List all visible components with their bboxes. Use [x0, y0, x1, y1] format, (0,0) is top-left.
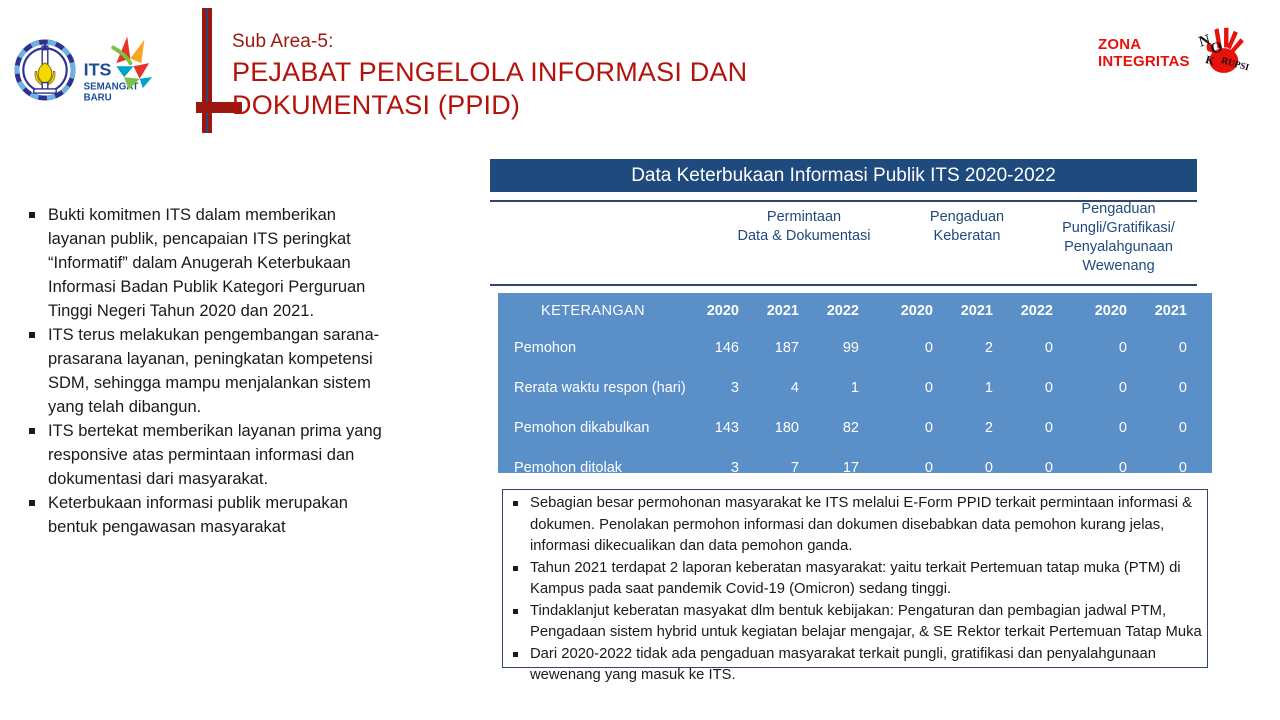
- bullet-square-icon: [29, 500, 35, 506]
- cell-value: 0: [1076, 328, 1136, 368]
- cell-value: 1: [942, 368, 1002, 408]
- cell-value: 99: [808, 328, 868, 368]
- bullet-square-icon: [513, 609, 518, 614]
- list-item-text: ITS bertekat memberikan layanan prima ya…: [48, 422, 382, 488]
- its-seal-logo-icon: [10, 35, 80, 105]
- list-item: ITS bertekat memberikan layanan prima ya…: [22, 419, 382, 491]
- cell-value: 82: [808, 408, 868, 448]
- row-label: Pemohon dikabulkan: [498, 408, 688, 448]
- cell-value: 180: [748, 408, 808, 448]
- column-gap: [868, 448, 882, 473]
- no-korupsi-hand-stamp-icon: N O K RUPSI: [1178, 22, 1252, 86]
- list-item: Tindaklanjut keberatan masyakat dlm bent…: [508, 601, 1208, 644]
- list-item: Keterbukaan informasi publik merupakan b…: [22, 491, 382, 539]
- list-item: Bukti komitmen ITS dalam memberikan laya…: [22, 203, 382, 323]
- cell-value: 0: [1002, 408, 1062, 448]
- list-item: ITS terus melakukan pengembangan sarana-…: [22, 323, 382, 419]
- svg-text:ITS: ITS: [84, 60, 112, 80]
- notes-list: Sebagian besar permohonan masyarakat ke …: [508, 493, 1208, 687]
- cell-value: 0: [1196, 408, 1212, 448]
- page-title: PEJABAT PENGELOLA INFORMASI DAN DOKUMENT…: [232, 56, 932, 122]
- column-header-year: 2021: [748, 293, 808, 328]
- list-item-text: Bukti komitmen ITS dalam memberikan laya…: [48, 206, 365, 320]
- cell-value: 0: [1076, 368, 1136, 408]
- table-row: Rerata waktu respon (hari) 3 4 1 0 1 0 0…: [498, 368, 1212, 408]
- cell-value: 0: [882, 328, 942, 368]
- cell-value: 17: [808, 448, 868, 473]
- column-header-year: 2022: [808, 293, 868, 328]
- table-header-row: KETERANGAN 2020 2021 2022 2020 2021 2022…: [498, 293, 1212, 328]
- column-header-year: 2020: [1076, 293, 1136, 328]
- column-group-header-pungli: Pengaduan Pungli/Gratifikasi/ Penyalahgu…: [1040, 200, 1197, 276]
- column-header-year: 2022: [1196, 293, 1212, 328]
- cell-value: 0: [1076, 448, 1136, 473]
- cell-value: 0: [1136, 408, 1196, 448]
- cell-value: 0: [1002, 448, 1062, 473]
- cell-value: 187: [748, 328, 808, 368]
- bullet-square-icon: [513, 501, 518, 506]
- cell-value: 0: [942, 448, 1002, 473]
- cell-value: 0: [1196, 448, 1212, 473]
- list-item: Dari 2020-2022 tidak ada pengaduan masya…: [508, 644, 1208, 687]
- bullet-square-icon: [29, 332, 35, 338]
- cell-value: 0: [1002, 328, 1062, 368]
- column-header-year: 2022: [1002, 293, 1062, 328]
- cell-value: 4: [748, 368, 808, 408]
- group-header-rule-bottom: [490, 284, 1197, 286]
- column-gap: [868, 293, 882, 328]
- accent-navy-hairline: [206, 8, 208, 133]
- column-header-year: 2020: [882, 293, 942, 328]
- column-gap: [1062, 293, 1076, 328]
- table-row: Pemohon ditolak 3 7 17 0 0 0 0 0 0: [498, 448, 1212, 473]
- cell-value: 0: [1136, 448, 1196, 473]
- list-item-text: Tahun 2021 terdapat 2 laporan keberatan …: [530, 560, 1181, 598]
- cell-value: 3: [688, 448, 748, 473]
- row-label: Rerata waktu respon (hari): [498, 368, 688, 408]
- column-header-year: 2021: [942, 293, 1002, 328]
- column-gap: [1062, 328, 1076, 368]
- cell-value: 0: [1002, 368, 1062, 408]
- column-gap: [1062, 408, 1076, 448]
- left-notes-list: Bukti komitmen ITS dalam memberikan laya…: [22, 203, 382, 539]
- cell-value: 0: [882, 408, 942, 448]
- list-item-text: ITS terus melakukan pengembangan sarana-…: [48, 326, 379, 416]
- column-gap: [868, 368, 882, 408]
- cell-value: 146: [688, 328, 748, 368]
- column-header-year: 2020: [688, 293, 748, 328]
- column-gap: [1062, 448, 1076, 473]
- column-header-year: 2021: [1136, 293, 1196, 328]
- row-label: Pemohon ditolak: [498, 448, 688, 473]
- list-item-text: Keterbukaan informasi publik merupakan b…: [48, 494, 348, 536]
- column-group-header-keberatan: Pengaduan Keberatan: [908, 208, 1026, 246]
- cell-value: 2: [942, 408, 1002, 448]
- cell-value: 2: [942, 328, 1002, 368]
- list-item: Sebagian besar permohonan masyarakat ke …: [508, 493, 1208, 558]
- cell-value: 0: [1196, 368, 1212, 408]
- cell-value: 0: [882, 448, 942, 473]
- column-gap: [868, 408, 882, 448]
- bullet-square-icon: [29, 428, 35, 434]
- list-item-text: Dari 2020-2022 tidak ada pengaduan masya…: [530, 646, 1156, 684]
- row-label: Pemohon: [498, 328, 688, 368]
- list-item: Tahun 2021 terdapat 2 laporan keberatan …: [508, 558, 1208, 601]
- page-title-block: Sub Area-5: PEJABAT PENGELOLA INFORMASI …: [232, 30, 932, 122]
- table-title-banner: Data Keterbukaan Informasi Publik ITS 20…: [490, 159, 1197, 192]
- data-table: KETERANGAN 2020 2021 2022 2020 2021 2022…: [498, 293, 1212, 473]
- list-item-text: Tindaklanjut keberatan masyakat dlm bent…: [530, 603, 1202, 641]
- cell-value: 0: [1136, 328, 1196, 368]
- bullet-square-icon: [513, 566, 518, 571]
- svg-text:BARU: BARU: [84, 93, 112, 104]
- column-gap: [1062, 368, 1076, 408]
- cell-value: 143: [688, 408, 748, 448]
- bullet-square-icon: [513, 652, 518, 657]
- cell-value: 0: [1076, 408, 1136, 448]
- cell-value: 0: [1196, 328, 1212, 368]
- its-semangat-baru-logo-icon: ITS SEMANGAT BARU: [82, 32, 160, 106]
- column-group-header-permintaan: Permintaan Data & Dokumentasi: [706, 208, 902, 246]
- cell-value: 3: [688, 368, 748, 408]
- column-header-keterangan: KETERANGAN: [498, 293, 688, 328]
- table-row: Pemohon 146 187 99 0 2 0 0 0 0: [498, 328, 1212, 368]
- cell-value: 1: [808, 368, 868, 408]
- cell-value: 0: [1136, 368, 1196, 408]
- bullet-square-icon: [29, 212, 35, 218]
- list-item-text: Sebagian besar permohonan masyarakat ke …: [530, 495, 1192, 554]
- cell-value: 7: [748, 448, 808, 473]
- table-row: Pemohon dikabulkan 143 180 82 0 2 0 0 0 …: [498, 408, 1212, 448]
- column-gap: [868, 328, 882, 368]
- header-logo-group: ITS SEMANGAT BARU: [0, 20, 180, 130]
- subarea-label: Sub Area-5:: [232, 30, 932, 54]
- cell-value: 0: [882, 368, 942, 408]
